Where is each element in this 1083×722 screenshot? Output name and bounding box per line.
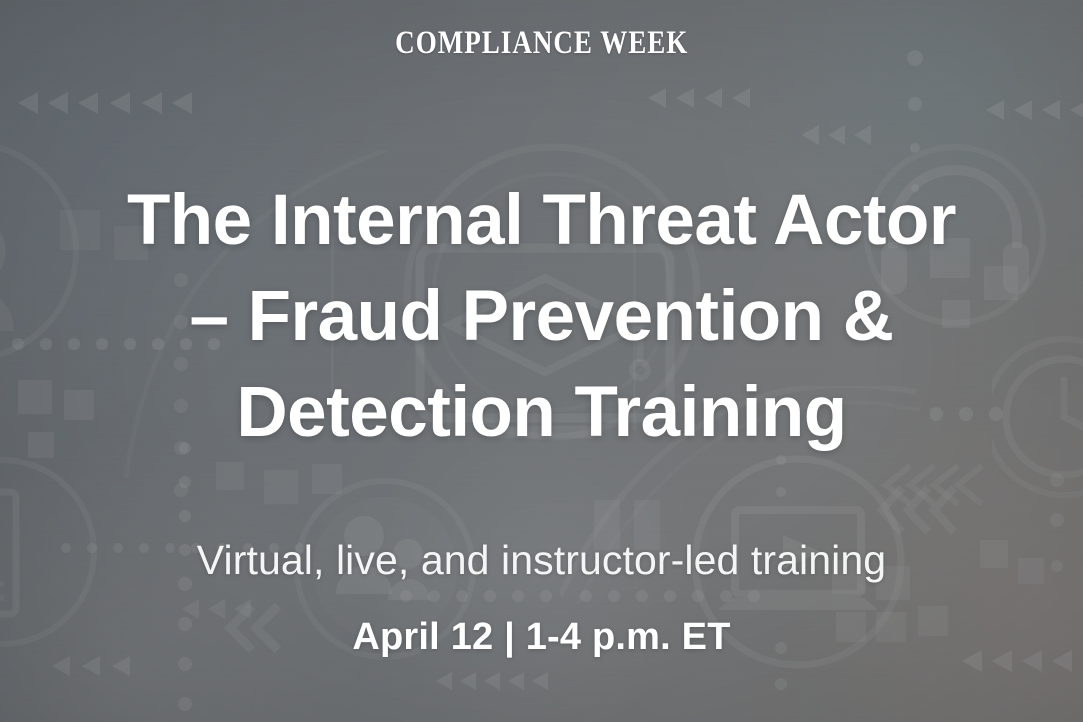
- training-promo-banner: COMPLIANCE WEEK The Internal Threat Acto…: [0, 0, 1083, 722]
- page-title-line-2: – Fraud Prevention &: [127, 269, 956, 365]
- page-title: The Internal Threat Actor – Fraud Preven…: [113, 60, 970, 461]
- compliance-week-logo: COMPLIANCE WEEK: [395, 27, 688, 60]
- event-date-time: April 12 | 1-4 p.m. ET: [352, 618, 730, 656]
- banner-content: COMPLIANCE WEEK The Internal Threat Acto…: [0, 0, 1083, 722]
- event-subtitle: Virtual, live, and instructor-led traini…: [197, 540, 886, 581]
- page-title-line-3: Detection Training: [127, 365, 956, 461]
- page-title-line-1: The Internal Threat Actor: [127, 173, 956, 269]
